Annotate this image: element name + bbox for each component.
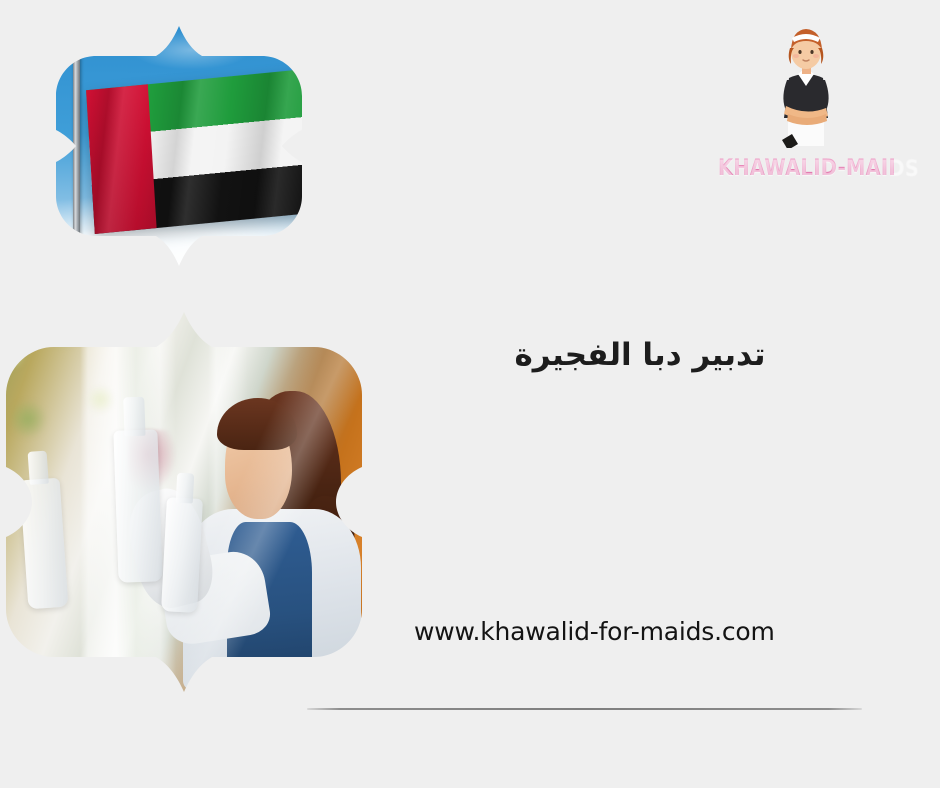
- brand-wordmark: KHAWALID-MAIDS: [718, 156, 894, 181]
- headline-arabic: تدبير دبا الفجيرة: [430, 336, 850, 375]
- uae-flag-cloth: [87, 68, 302, 234]
- poster-canvas: KHAWALID-MAIDS تدبير دبا الفجيرة www.kha…: [0, 0, 940, 788]
- uae-flag-image: [56, 26, 302, 266]
- website-url[interactable]: www.khawalid-for-maids.com: [414, 617, 775, 646]
- flag-pole: [73, 50, 80, 252]
- brand-logo: KHAWALID-MAIDS: [706, 22, 906, 200]
- maid-cleaning-photo-card: [0, 312, 384, 692]
- spray-bottle-icon: [113, 429, 162, 582]
- spray-bottle-icon: [161, 497, 203, 613]
- maid-mascot-icon: [758, 22, 854, 148]
- uae-flag-card: [56, 26, 302, 266]
- footer-divider: [307, 708, 862, 710]
- maid-cleaning-window-photo: [0, 312, 384, 692]
